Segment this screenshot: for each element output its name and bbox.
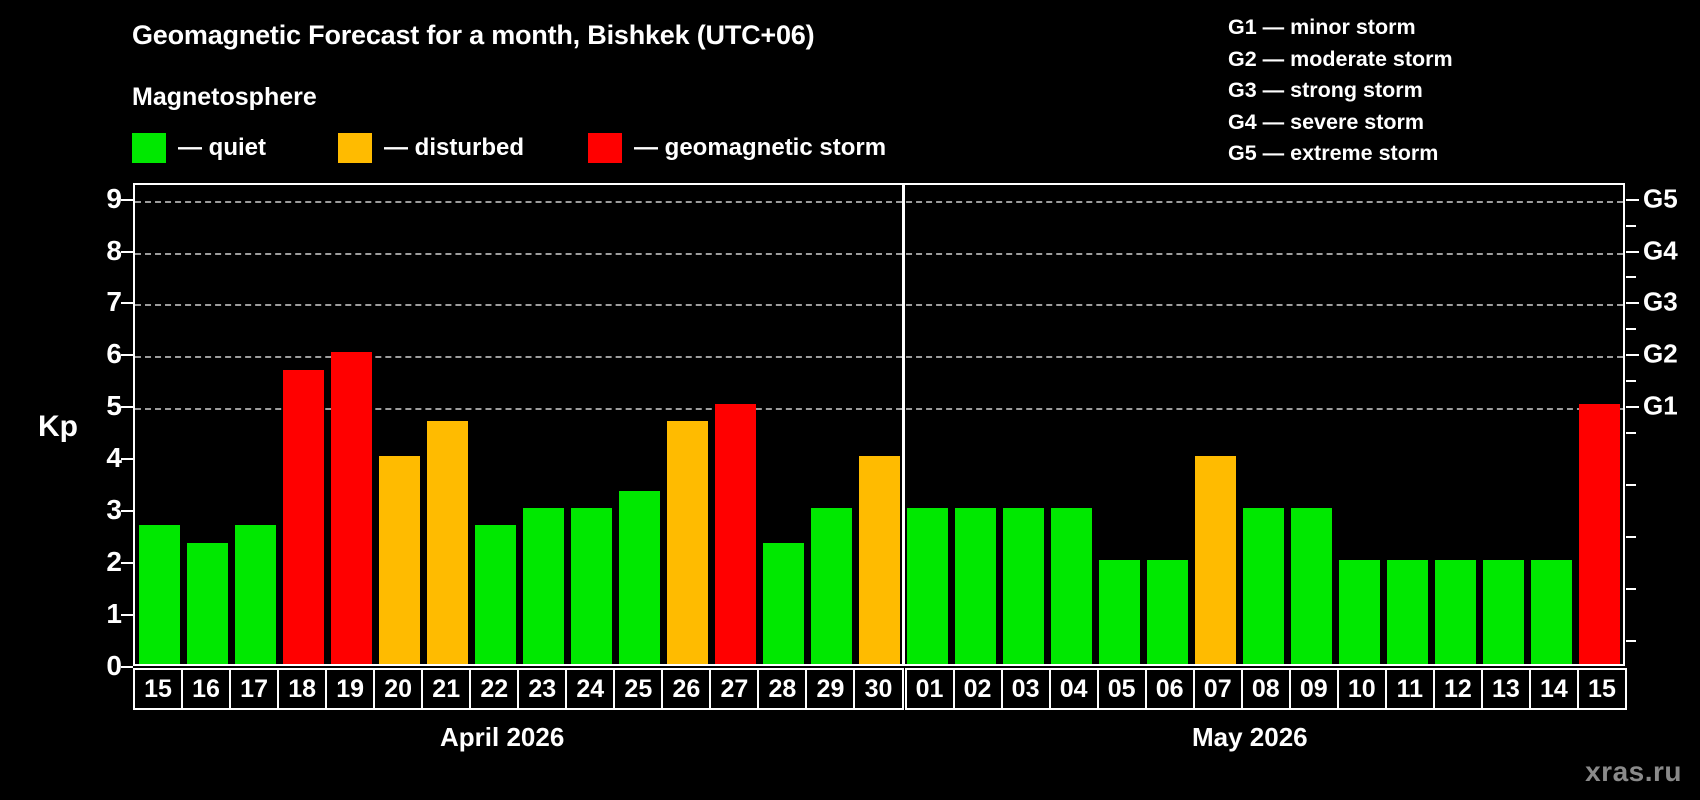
bar-17[interactable] [235, 525, 276, 664]
date-label-18[interactable]: 18 [277, 668, 327, 710]
g-tick-mark-G4 [1626, 251, 1639, 253]
bar-slot[interactable] [1335, 185, 1383, 664]
bar-slot[interactable] [1575, 185, 1623, 664]
bar-12[interactable] [1435, 560, 1476, 664]
bar-06[interactable] [1147, 560, 1188, 664]
y-tick-mark-1 [121, 614, 133, 616]
y-tick-label-7: 7 [82, 286, 122, 318]
date-label-06[interactable]: 06 [1145, 668, 1195, 710]
date-label-20[interactable]: 20 [373, 668, 423, 710]
red-square-icon [588, 133, 622, 163]
y-tick-mark-4 [121, 458, 133, 460]
g-minor-tick [1626, 380, 1636, 382]
watermark: xras.ru [1585, 756, 1682, 788]
bar-slot[interactable] [1287, 185, 1335, 664]
gscale-line-3: G3 — strong storm [1228, 75, 1558, 107]
bar-07[interactable] [1195, 456, 1236, 664]
geomagnetic-forecast-chart: Geomagnetic Forecast for a month, Bishke… [0, 0, 1700, 800]
bar-08[interactable] [1243, 508, 1284, 664]
date-label-19[interactable]: 19 [325, 668, 375, 710]
y-tick-label-1: 1 [82, 598, 122, 630]
gscale-line-5: G5 — extreme storm [1228, 138, 1558, 170]
date-label-24[interactable]: 24 [565, 668, 615, 710]
bar-slot[interactable] [1239, 185, 1287, 664]
g-tick-mark-G3 [1626, 302, 1639, 304]
bar-slot[interactable] [1431, 185, 1479, 664]
date-label-01[interactable]: 01 [905, 668, 955, 710]
bar-slot[interactable] [759, 185, 807, 664]
date-label-27[interactable]: 27 [709, 668, 759, 710]
green-square-icon [132, 133, 166, 163]
plot-area [133, 183, 1625, 666]
bar-22[interactable] [475, 525, 516, 664]
y-tick-label-2: 2 [82, 546, 122, 578]
date-label-08[interactable]: 08 [1241, 668, 1291, 710]
bar-25[interactable] [619, 491, 660, 664]
date-label-13[interactable]: 13 [1481, 668, 1531, 710]
g-tick-mark-G5 [1626, 199, 1639, 201]
bar-slot[interactable] [663, 185, 711, 664]
bar-13[interactable] [1483, 560, 1524, 664]
bar-05[interactable] [1099, 560, 1140, 664]
date-label-03[interactable]: 03 [1001, 668, 1051, 710]
bar-16[interactable] [187, 543, 228, 664]
bar-28[interactable] [763, 543, 804, 664]
month-caption-april: April 2026 [440, 722, 564, 753]
plot-inner [135, 185, 1623, 664]
bar-21[interactable] [427, 421, 468, 664]
bar-slot[interactable] [327, 185, 375, 664]
date-label-07[interactable]: 07 [1193, 668, 1243, 710]
y-tick-mark-2 [121, 562, 133, 564]
bar-slot[interactable] [1527, 185, 1575, 664]
date-label-16[interactable]: 16 [181, 668, 231, 710]
g-minor-tick [1626, 484, 1636, 486]
bar-slot[interactable] [1095, 185, 1143, 664]
chart-subtitle: Magnetosphere [132, 83, 317, 112]
date-label-23[interactable]: 23 [517, 668, 567, 710]
bar-slot[interactable] [423, 185, 471, 664]
date-label-29[interactable]: 29 [805, 668, 855, 710]
y-tick-mark-7 [121, 302, 133, 304]
y-tick-label-8: 8 [82, 235, 122, 267]
bar-slot[interactable] [807, 185, 855, 664]
date-label-12[interactable]: 12 [1433, 668, 1483, 710]
gscale-line-1: G1 — minor storm [1228, 12, 1558, 44]
y-tick-label-6: 6 [82, 338, 122, 370]
g-minor-tick [1626, 588, 1636, 590]
bar-03[interactable] [1003, 508, 1044, 664]
gscale-legend: G1 — minor stormG2 — moderate stormG3 — … [1228, 12, 1558, 170]
date-label-09[interactable]: 09 [1289, 668, 1339, 710]
bar-slot[interactable] [231, 185, 279, 664]
bar-slot[interactable] [951, 185, 999, 664]
g-tick-label-G2: G2 [1643, 339, 1678, 370]
y-tick-mark-0 [121, 666, 133, 668]
legend-label-2: — geomagnetic storm [634, 134, 886, 162]
legend-item-1: — disturbed [338, 132, 524, 164]
date-label-26[interactable]: 26 [661, 668, 711, 710]
y-tick-mark-5 [121, 406, 133, 408]
g-minor-tick [1626, 432, 1636, 434]
y-tick-mark-6 [121, 354, 133, 356]
y-axis-title: Kp [38, 410, 78, 444]
bar-slot[interactable] [183, 185, 231, 664]
orange-square-icon [338, 133, 372, 163]
g-minor-tick [1626, 328, 1636, 330]
bar-10[interactable] [1339, 560, 1380, 664]
bar-slot[interactable] [1383, 185, 1431, 664]
bar-11[interactable] [1387, 560, 1428, 664]
y-tick-label-4: 4 [82, 442, 122, 474]
date-label-14[interactable]: 14 [1529, 668, 1579, 710]
y-tick-mark-8 [121, 251, 133, 253]
date-label-25[interactable]: 25 [613, 668, 663, 710]
bar-slot[interactable] [135, 185, 183, 664]
legend-label-1: — disturbed [384, 134, 524, 162]
bar-series [135, 185, 1623, 664]
bar-20[interactable] [379, 456, 420, 664]
g-tick-label-G3: G3 [1643, 287, 1678, 318]
g-tick-label-G4: G4 [1643, 235, 1678, 266]
page-title: Geomagnetic Forecast for a month, Bishke… [132, 20, 814, 51]
date-label-15[interactable]: 15 [133, 668, 183, 710]
bar-24[interactable] [571, 508, 612, 664]
bar-slot[interactable] [1479, 185, 1527, 664]
bar-30[interactable] [859, 456, 900, 664]
date-label-05[interactable]: 05 [1097, 668, 1147, 710]
date-label-17[interactable]: 17 [229, 668, 279, 710]
bar-slot[interactable] [567, 185, 615, 664]
date-label-10[interactable]: 10 [1337, 668, 1387, 710]
bar-slot[interactable] [1047, 185, 1095, 664]
bar-27[interactable] [715, 404, 756, 664]
gscale-line-2: G2 — moderate storm [1228, 44, 1558, 76]
g-tick-label-G1: G1 [1643, 391, 1678, 422]
date-label-21[interactable]: 21 [421, 668, 471, 710]
date-label-11[interactable]: 11 [1385, 668, 1435, 710]
bar-slot[interactable] [375, 185, 423, 664]
g-minor-tick [1626, 640, 1636, 642]
bar-slot[interactable] [1191, 185, 1239, 664]
g-tick-mark-G1 [1626, 406, 1639, 408]
g-minor-tick [1626, 276, 1636, 278]
date-label-02[interactable]: 02 [953, 668, 1003, 710]
g-minor-tick [1626, 536, 1636, 538]
bar-18[interactable] [283, 370, 324, 664]
bar-01[interactable] [907, 508, 948, 664]
g-minor-tick [1626, 225, 1636, 227]
y-tick-mark-3 [121, 510, 133, 512]
bar-15[interactable] [139, 525, 180, 664]
bar-04[interactable] [1051, 508, 1092, 664]
legend-item-0: — quiet [132, 132, 266, 164]
g-tick-label-G5: G5 [1643, 183, 1678, 214]
bar-slot[interactable] [471, 185, 519, 664]
bar-23[interactable] [523, 508, 564, 664]
bar-26[interactable] [667, 421, 708, 664]
date-label-15[interactable]: 15 [1577, 668, 1627, 710]
bar-14[interactable] [1531, 560, 1572, 664]
y-tick-mark-9 [121, 199, 133, 201]
bar-02[interactable] [955, 508, 996, 664]
bar-slot[interactable] [1143, 185, 1191, 664]
date-label-22[interactable]: 22 [469, 668, 519, 710]
bar-slot[interactable] [855, 185, 903, 664]
bar-09[interactable] [1291, 508, 1332, 664]
bar-slot[interactable] [999, 185, 1047, 664]
gscale-line-4: G4 — severe storm [1228, 107, 1558, 139]
date-label-30[interactable]: 30 [853, 668, 903, 710]
bar-slot[interactable] [279, 185, 327, 664]
month-caption-may: May 2026 [1192, 722, 1308, 753]
y-tick-label-3: 3 [82, 494, 122, 526]
y-tick-label-0: 0 [82, 650, 122, 682]
y-tick-label-9: 9 [82, 183, 122, 215]
y-tick-label-5: 5 [82, 390, 122, 422]
g-tick-mark-G2 [1626, 354, 1639, 356]
bar-slot[interactable] [615, 185, 663, 664]
bar-19[interactable] [331, 352, 372, 664]
month-divider [902, 185, 905, 664]
legend-item-2: — geomagnetic storm [588, 132, 886, 164]
date-axis-labels: 1516171819202122232425262728293001020304… [133, 668, 1625, 710]
bar-15[interactable] [1579, 404, 1620, 664]
date-label-28[interactable]: 28 [757, 668, 807, 710]
bar-29[interactable] [811, 508, 852, 664]
bar-slot[interactable] [519, 185, 567, 664]
bar-slot[interactable] [711, 185, 759, 664]
bar-slot[interactable] [903, 185, 951, 664]
legend-label-0: — quiet [178, 134, 266, 162]
date-label-04[interactable]: 04 [1049, 668, 1099, 710]
